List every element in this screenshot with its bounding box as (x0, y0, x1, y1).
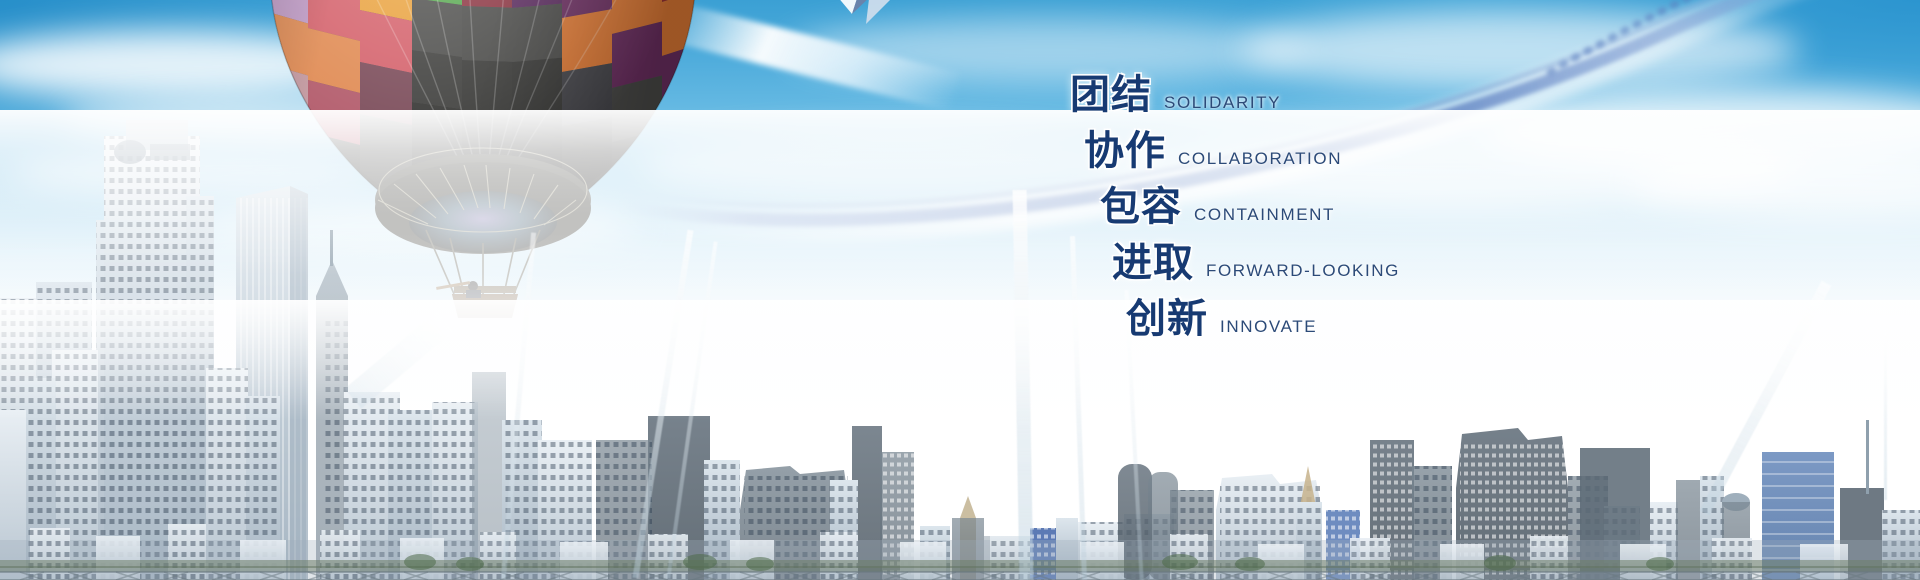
slogan-en-forward-looking: FORWARD-LOOKING (1206, 261, 1400, 281)
slogan-en-innovate: INNOVATE (1220, 317, 1317, 337)
corporate-culture-banner: 团结 SOLIDARITY 协作 COLLABORATION 包容 CONTAI… (0, 0, 1920, 580)
slogan-cn-innovate: 创新 (1126, 286, 1208, 344)
slogan-en-solidarity: SOLIDARITY (1164, 93, 1281, 113)
slogan-row-innovate: 创新 INNOVATE (1060, 286, 1580, 342)
slogan-row-solidarity: 团结 SOLIDARITY (1060, 62, 1580, 118)
city-skyline (0, 110, 1920, 580)
slogan-block: 团结 SOLIDARITY 协作 COLLABORATION 包容 CONTAI… (1060, 62, 1580, 342)
slogan-en-collaboration: COLLABORATION (1178, 149, 1342, 169)
slogan-row-collaboration: 协作 COLLABORATION (1060, 118, 1580, 174)
slogan-cn-solidarity: 团结 (1070, 62, 1152, 120)
slogan-en-containment: CONTAINMENT (1194, 205, 1335, 225)
slogan-cn-forward-looking: 进取 (1112, 230, 1194, 288)
slogan-cn-containment: 包容 (1100, 174, 1182, 232)
cable-stay-mast (1884, 330, 1887, 500)
slogan-cn-collaboration: 协作 (1084, 118, 1166, 176)
slogan-row-forward-looking: 进取 FORWARD-LOOKING (1060, 230, 1580, 286)
paper-plane-icon (780, 0, 980, 80)
slogan-row-containment: 包容 CONTAINMENT (1060, 174, 1580, 230)
